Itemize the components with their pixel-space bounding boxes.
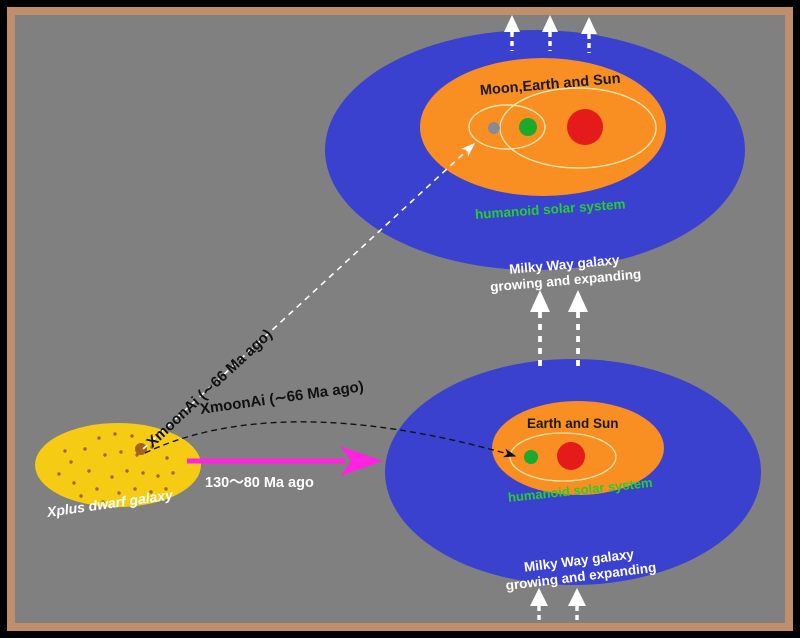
top-moon-body: [488, 122, 500, 134]
figure-root: Moon,Earth and Sun humanoid solar system…: [0, 0, 800, 638]
bottom-expansion-arrows: [530, 588, 586, 623]
bottom-galaxy-group: [385, 359, 761, 585]
bottom-bodies-label: Earth and Sun: [527, 416, 619, 431]
top-galaxy-group: [325, 30, 745, 270]
middle-expansion-arrows: [530, 290, 588, 367]
diagram-artwork: [15, 15, 785, 623]
bottom-sun-body: [557, 442, 585, 470]
top-sun-body: [567, 109, 603, 145]
bottom-earth-body: [524, 450, 538, 464]
top-earth-body: [519, 118, 537, 136]
diagram-canvas: Moon,Earth and Sun humanoid solar system…: [15, 15, 785, 623]
migration-arrow-label: 130～80 Ma ago: [205, 471, 314, 492]
